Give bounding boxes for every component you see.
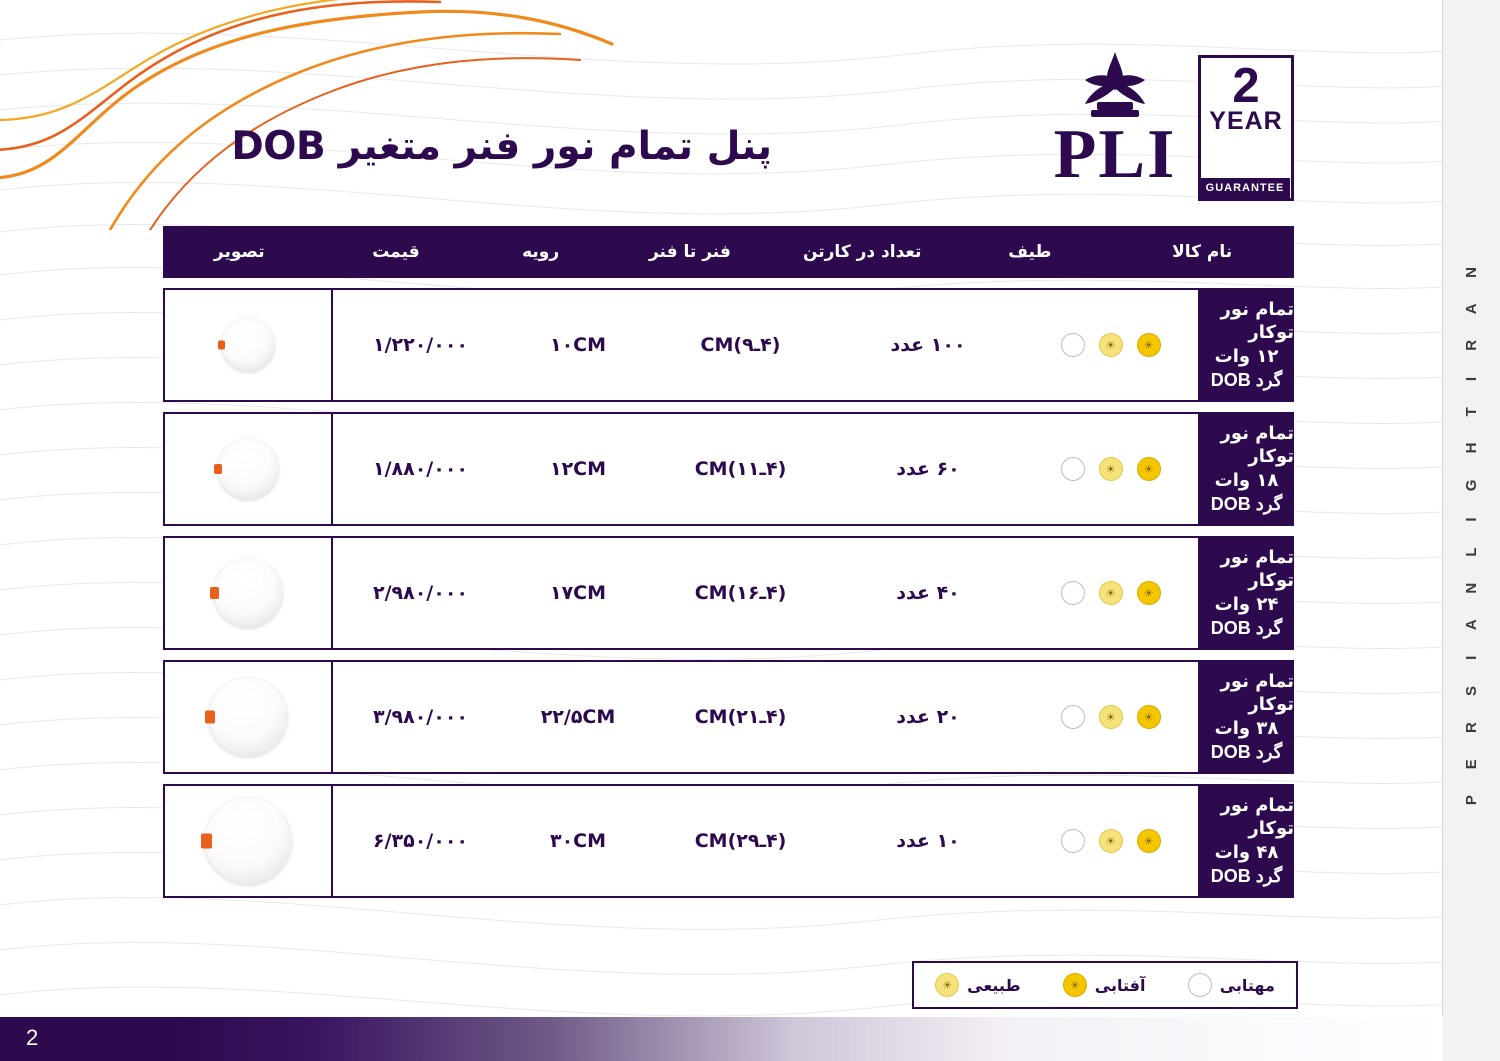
lamp-photo: [222, 319, 274, 371]
legend-dot-natural-icon: ☀: [935, 973, 959, 997]
cell-product-name: تمام نور توکار۱۲ واتگرد DOB: [1199, 288, 1294, 402]
cell-count-per-carton: ۶۰ عدد: [833, 458, 1023, 480]
cell-count-per-carton: ۲۰ عدد: [833, 706, 1023, 728]
spectrum-dots: ☀☀: [1023, 829, 1198, 853]
product-name-line1: تمام نور توکار: [1199, 546, 1294, 594]
product-name-line1: تمام نور توکار: [1199, 422, 1294, 470]
product-name-line2: ۱۸ وات: [1215, 469, 1279, 493]
cell-product-name: تمام نور توکار۳۸ واتگرد DOB: [1199, 660, 1294, 774]
spectrum-dot-warm-icon: ☀: [1137, 705, 1161, 729]
row-body: ☀☀۶۰ عدد(۴ـ۱۱)CM۱۲CM۱/۸۸۰/۰۰۰: [163, 412, 1200, 526]
table-row: تمام نور توکار۴۸ واتگرد DOB☀☀۱۰ عدد(۴ـ۲۹…: [163, 784, 1294, 898]
legend-item: مهتابی: [1188, 973, 1275, 997]
lamp-photo: [209, 678, 287, 756]
cell-image: [165, 786, 333, 896]
spectrum-dot-cool-icon: [1061, 705, 1085, 729]
spectrum-dot-warm-icon: ☀: [1137, 829, 1161, 853]
cell-price: ۶/۳۵۰/۰۰۰: [333, 830, 508, 852]
product-name-line2: ۴۸ وات: [1215, 841, 1279, 865]
cell-image: [165, 414, 333, 524]
legend-label: مهتابی: [1220, 976, 1275, 995]
spectrum-dots: ☀☀: [1023, 705, 1198, 729]
guarantee-badge: 2 YEAR GUARANTEE: [1198, 55, 1294, 201]
cell-price: ۲/۹۸۰/۰۰۰: [333, 582, 508, 604]
product-name-line1: تمام نور توکار: [1199, 670, 1294, 718]
row-body: ☀☀۴۰ عدد(۴ـ۱۶)CM۱۷CM۲/۹۸۰/۰۰۰: [163, 536, 1200, 650]
table-row: تمام نور توکار۱۲ واتگرد DOB☀☀۱۰۰ عدد(۴ـ۹…: [163, 288, 1294, 402]
table-row: تمام نور توکار۲۴ واتگرد DOB☀☀۴۰ عدد(۴ـ۱۶…: [163, 536, 1294, 650]
page-number: 2: [26, 1025, 38, 1051]
row-body: ☀☀۱۰۰ عدد(۴ـ۹)CM۱۰CM۱/۲۲۰/۰۰۰: [163, 288, 1200, 402]
cell-product-name: تمام نور توکار۴۸ واتگرد DOB: [1199, 784, 1294, 898]
legend-dot-cool-icon: [1188, 973, 1212, 997]
row-body: ☀☀۱۰ عدد(۴ـ۲۹)CM۳۰CM۶/۳۵۰/۰۰۰: [163, 784, 1200, 898]
spectrum-dot-natural-icon: ☀: [1099, 581, 1123, 605]
cell-image: [165, 662, 333, 772]
cell-price: ۱/۲۲۰/۰۰۰: [333, 334, 508, 356]
legend-item: آفتابی☀: [1063, 973, 1146, 997]
lamp-photo: [205, 798, 291, 884]
table-row: تمام نور توکار۳۸ واتگرد DOB☀☀۲۰ عدد(۴ـ۲۱…: [163, 660, 1294, 774]
cell-face: ۳۰CM: [508, 830, 648, 852]
side-band-text: P E R S I A N L I G H T I R A N: [1463, 256, 1480, 805]
cell-spectrum: ☀☀: [1023, 581, 1198, 605]
cell-spectrum: ☀☀: [1023, 829, 1198, 853]
header-count-per-carton: تعداد در کارتن: [775, 242, 950, 262]
legend-label: طبیعی: [967, 976, 1020, 995]
product-name-line3: گرد DOB: [1211, 369, 1283, 393]
legend-item: طبیعی☀: [935, 973, 1020, 997]
product-name-line2: ۳۸ وات: [1215, 717, 1279, 741]
cell-spectrum: ☀☀: [1023, 457, 1198, 481]
product-name-line3: گرد DOB: [1211, 617, 1283, 641]
cell-face: ۱۲CM: [508, 458, 648, 480]
products-table: نام کالا طیف تعداد در کارتن فنر تا فنر ر…: [163, 226, 1294, 898]
product-name-line2: ۱۲ وات: [1215, 345, 1279, 369]
badge-guarantee-label: GUARANTEE: [1200, 178, 1290, 198]
spectrum-dot-natural-icon: ☀: [1099, 705, 1123, 729]
legend-label: آفتابی: [1095, 976, 1146, 995]
cell-face: ۱۰CM: [508, 334, 648, 356]
product-name-line3: گرد DOB: [1211, 865, 1283, 889]
header-face: رویه: [476, 242, 605, 262]
product-name-line3: گرد DOB: [1211, 493, 1283, 517]
product-name-line1: تمام نور توکار: [1199, 298, 1294, 346]
spectrum-dot-natural-icon: ☀: [1099, 829, 1123, 853]
spectrum-dots: ☀☀: [1023, 333, 1198, 357]
badge-number: 2: [1232, 62, 1259, 111]
table-body: تمام نور توکار۱۲ واتگرد DOB☀☀۱۰۰ عدد(۴ـ۹…: [163, 288, 1294, 898]
spectrum-dot-warm-icon: ☀: [1137, 581, 1161, 605]
cell-image: [165, 538, 333, 648]
cell-price: ۱/۸۸۰/۰۰۰: [333, 458, 508, 480]
cell-spring-to-spring: (۴ـ۲۱)CM: [648, 706, 833, 728]
spectrum-dots: ☀☀: [1023, 581, 1198, 605]
spectrum-dots: ☀☀: [1023, 457, 1198, 481]
right-side-band: P E R S I A N L I G H T I R A N: [1442, 0, 1500, 1061]
cell-product-name: تمام نور توکار۲۴ واتگرد DOB: [1199, 536, 1294, 650]
decorative-swoosh-lines: [0, 0, 620, 230]
legend-dot-warm-icon: ☀: [1063, 973, 1087, 997]
header-price: قیمت: [316, 242, 477, 262]
logo-text: PLI: [1035, 120, 1195, 190]
badge-year-label: YEAR: [1209, 109, 1282, 134]
header-spring-to-spring: فنر تا فنر: [605, 242, 775, 262]
brand-logo: PLI: [1035, 48, 1195, 198]
product-name-line1: تمام نور توکار: [1199, 794, 1294, 842]
cell-spring-to-spring: (۴ـ۲۹)CM: [648, 830, 833, 852]
spectrum-dot-natural-icon: ☀: [1099, 457, 1123, 481]
cell-count-per-carton: ۱۰۰ عدد: [833, 334, 1023, 356]
cell-spring-to-spring: (۴ـ۱۱)CM: [648, 458, 833, 480]
cell-spectrum: ☀☀: [1023, 333, 1198, 357]
table-header-row: نام کالا طیف تعداد در کارتن فنر تا فنر ر…: [163, 226, 1294, 278]
cell-face: ۲۲/۵CM: [508, 706, 648, 728]
lamp-photo: [214, 559, 282, 627]
cell-spring-to-spring: (۴ـ۱۶)CM: [648, 582, 833, 604]
bottom-bar: [0, 1017, 1443, 1061]
product-name-line2: ۲۴ وات: [1215, 593, 1279, 617]
page-title: پنل تمام نور فنر متغیر DOB: [231, 124, 772, 169]
cell-count-per-carton: ۱۰ عدد: [833, 830, 1023, 852]
row-body: ☀☀۲۰ عدد(۴ـ۲۱)CM۲۲/۵CM۳/۹۸۰/۰۰۰: [163, 660, 1200, 774]
spectrum-dot-warm-icon: ☀: [1137, 457, 1161, 481]
table-row: تمام نور توکار۱۸ واتگرد DOB☀☀۶۰ عدد(۴ـ۱۱…: [163, 412, 1294, 526]
cell-product-name: تمام نور توکار۱۸ واتگرد DOB: [1199, 412, 1294, 526]
header-image: تصویر: [163, 242, 316, 262]
spectrum-dot-cool-icon: [1061, 457, 1085, 481]
header-spectrum: طیف: [949, 242, 1110, 262]
cell-spring-to-spring: (۴ـ۹)CM: [648, 334, 833, 356]
lamp-photo: [218, 439, 278, 499]
cell-face: ۱۷CM: [508, 582, 648, 604]
spectrum-dot-cool-icon: [1061, 333, 1085, 357]
spectrum-dot-cool-icon: [1061, 581, 1085, 605]
cell-image: [165, 290, 333, 400]
cell-count-per-carton: ۴۰ عدد: [833, 582, 1023, 604]
cell-price: ۳/۹۸۰/۰۰۰: [333, 706, 508, 728]
product-name-line3: گرد DOB: [1211, 741, 1283, 765]
spectrum-dot-natural-icon: ☀: [1099, 333, 1123, 357]
spectrum-dot-cool-icon: [1061, 829, 1085, 853]
spectrum-dot-warm-icon: ☀: [1137, 333, 1161, 357]
cell-spectrum: ☀☀: [1023, 705, 1198, 729]
spectrum-legend: مهتابیآفتابی☀طبیعی☀: [912, 961, 1298, 1009]
header-name: نام کالا: [1110, 242, 1294, 262]
